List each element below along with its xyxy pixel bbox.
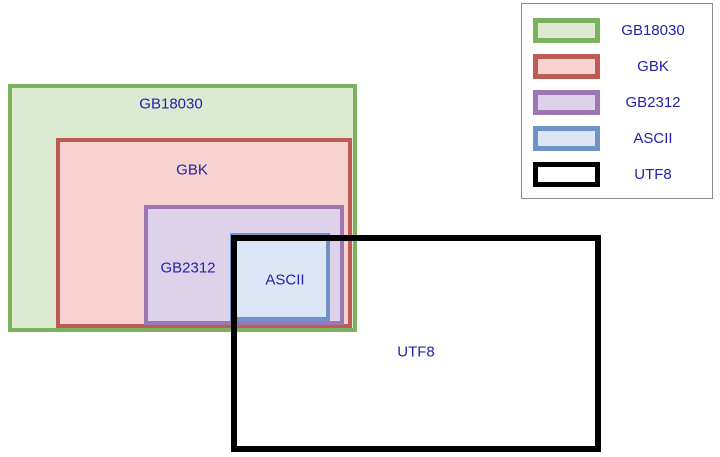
legend-item-gb2312: GB2312 xyxy=(522,84,712,120)
legend: GB18030 GBK GB2312 ASCII UTF8 xyxy=(521,3,713,199)
legend-item-utf8: UTF8 xyxy=(522,156,712,192)
legend-label-gbk: GBK xyxy=(600,59,712,74)
legend-label-gb18030: GB18030 xyxy=(600,23,712,38)
legend-swatch-utf8 xyxy=(533,162,600,187)
encoding-set-diagram: GB18030 GBK GB2312 ASCII UTF8 GB18030 GB… xyxy=(0,0,720,457)
set-label-ascii: ASCII xyxy=(265,273,304,288)
legend-swatch-gb2312 xyxy=(533,90,600,115)
set-label-gbk: GBK xyxy=(176,163,208,178)
legend-item-ascii: ASCII xyxy=(522,120,712,156)
set-label-gb18030: GB18030 xyxy=(139,97,202,112)
legend-swatch-gbk xyxy=(533,54,600,79)
set-label-utf8: UTF8 xyxy=(397,345,435,360)
legend-swatch-ascii xyxy=(533,126,600,151)
legend-label-utf8: UTF8 xyxy=(600,167,712,182)
legend-label-gb2312: GB2312 xyxy=(600,95,712,110)
legend-label-ascii: ASCII xyxy=(600,131,712,146)
set-label-gb2312: GB2312 xyxy=(160,261,215,276)
legend-item-gb18030: GB18030 xyxy=(522,12,712,48)
legend-item-gbk: GBK xyxy=(522,48,712,84)
legend-swatch-gb18030 xyxy=(533,18,600,43)
